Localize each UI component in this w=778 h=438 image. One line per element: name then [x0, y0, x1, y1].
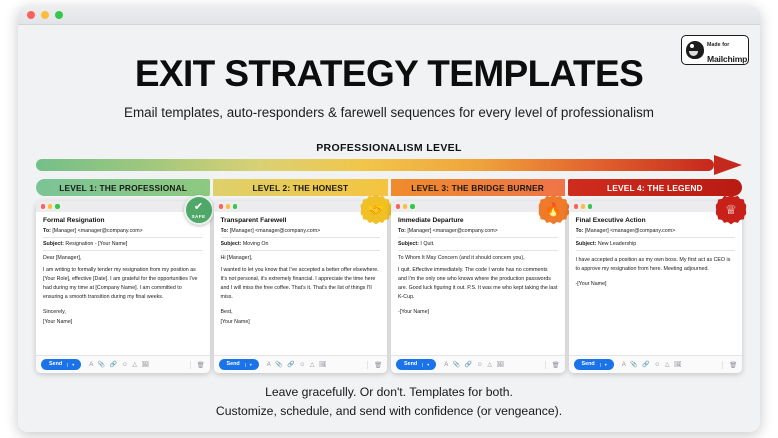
trash-icon[interactable]: 🗑: [722, 361, 737, 369]
mail-to-label: To:: [576, 228, 584, 234]
attach-file-icon[interactable]: 📎: [98, 362, 105, 368]
mail-greeting: To Whom It May Concern (and it should co…: [398, 255, 558, 261]
mail-to-field[interactable]: To: [Manager] <manager@company.com>: [43, 228, 203, 238]
mail-subject-value: I Quit.: [420, 241, 434, 247]
drive-icon[interactable]: △: [132, 362, 137, 368]
seal-glyph: ✔: [194, 202, 203, 213]
mail-subject-field[interactable]: Subject: Moving On: [221, 241, 381, 251]
footer-line-2: Customize, schedule, and send with confi…: [18, 402, 760, 421]
card-maximize-button[interactable]: [588, 204, 592, 208]
send-button[interactable]: Send ▾: [574, 359, 614, 369]
insert-photo-icon[interactable]: 🖼: [141, 362, 149, 368]
template-card-grid: ✔ SAFE Formal Resignation To: [Manager] …: [36, 201, 742, 373]
toolbar-icon-group: A 📎 🔗 ☺ △ 🖼: [267, 362, 327, 368]
mail-signoff: Best, [Your Name]: [221, 308, 381, 326]
mail-signoff: -[Your Name]: [576, 280, 736, 289]
attach-file-icon[interactable]: 📎: [275, 362, 282, 368]
trash-icon[interactable]: 🗑: [367, 361, 382, 369]
mail-subject-field[interactable]: Subject: Resignation - [Your Name]: [43, 241, 203, 251]
mail-title: Formal Resignation: [43, 217, 203, 224]
professionalism-meter-title: PROFESSIONALISM LEVEL: [18, 142, 760, 154]
mail-paragraph: I have accepted a position as my own bos…: [576, 256, 736, 274]
mail-paragraph: I am writing to formally tender my resig…: [43, 266, 203, 302]
drive-icon[interactable]: △: [665, 362, 670, 368]
level-chip-3[interactable]: LEVEL 3: THE BRIDGE BURNER: [391, 179, 565, 196]
card-minimize-button[interactable]: [403, 204, 407, 208]
template-card-final-executive-action[interactable]: ♕ Final Executive Action To: [Manager] <…: [569, 201, 743, 373]
trash-icon[interactable]: 🗑: [190, 361, 205, 369]
seal-glyph: 🤝: [368, 203, 384, 216]
template-card-immediate-departure[interactable]: 🔥 Immediate Departure To: [Manager] <man…: [391, 201, 565, 373]
mail-subject-label: Subject:: [221, 241, 242, 247]
badge-made-for-label: Made for: [707, 42, 729, 48]
compose-toolbar: Send ▾ A 📎 🔗 ☺ △ 🖼 🗑: [391, 355, 565, 373]
footer-caption: Leave gracefully. Or don't. Templates fo…: [18, 383, 760, 420]
send-button-label: Send: [404, 362, 417, 367]
insert-photo-icon[interactable]: 🖼: [496, 362, 504, 368]
mail-subject-field[interactable]: Subject: New Leadership: [576, 241, 736, 251]
emoji-icon[interactable]: ☺: [477, 362, 483, 368]
mail-subject-label: Subject:: [43, 241, 64, 247]
chevron-down-icon[interactable]: ▾: [67, 363, 74, 367]
card-body: Formal Resignation To: [Manager] <manage…: [36, 212, 210, 355]
toolbar-icon-group: A 📎 🔗 ☺ △ 🖼: [89, 362, 149, 368]
seal-label: SAFE: [192, 214, 206, 219]
mail-to-value: [Manager] <manager@company.com>: [407, 228, 497, 234]
mail-to-field[interactable]: To: [Manager] <manager@company.com>: [221, 228, 381, 238]
mail-paragraph: I quit. Effective immediately. The code …: [398, 266, 558, 302]
seal-glyph: ♕: [725, 203, 737, 216]
send-button-label: Send: [49, 362, 62, 367]
chevron-down-icon[interactable]: ▾: [422, 363, 429, 367]
check-seal-icon: ✔ SAFE: [184, 195, 214, 225]
template-card-formal-resignation[interactable]: ✔ SAFE Formal Resignation To: [Manager] …: [36, 201, 210, 373]
template-card-transparent-farewell[interactable]: 🤝 Transparent Farewell To: [Manager] <ma…: [214, 201, 388, 373]
card-minimize-button[interactable]: [48, 204, 52, 208]
mail-to-value: [Manager] <manager@company.com>: [230, 228, 320, 234]
toolbar-icon-group: A 📎 🔗 ☺ △ 🖼: [444, 362, 504, 368]
insert-link-icon[interactable]: 🔗: [287, 362, 294, 368]
app-window: Made for Mailchimp EXIT STRATEGY TEMPLAT…: [18, 6, 760, 432]
mail-subject-value: Moving On: [243, 241, 269, 247]
window-titlebar: [18, 6, 760, 25]
card-body: Final Executive Action To: [Manager] <ma…: [569, 212, 743, 355]
format-text-icon[interactable]: A: [89, 362, 93, 368]
compose-toolbar: Send ▾ A 📎 🔗 ☺ △ 🖼 🗑: [569, 355, 743, 373]
insert-link-icon[interactable]: 🔗: [465, 362, 472, 368]
format-text-icon[interactable]: A: [444, 362, 448, 368]
attach-file-icon[interactable]: 📎: [453, 362, 460, 368]
card-maximize-button[interactable]: [55, 204, 59, 208]
compose-toolbar: Send ▾ A 📎 🔗 ☺ △ 🖼 🗑: [36, 355, 210, 373]
mail-subject-value: New Leadership: [598, 241, 636, 247]
drive-icon[interactable]: △: [310, 362, 315, 368]
card-close-button[interactable]: [396, 204, 400, 208]
mail-title: Final Executive Action: [576, 217, 736, 224]
window-maximize-button[interactable]: [55, 11, 63, 19]
mail-subject-field[interactable]: Subject: I Quit.: [398, 241, 558, 251]
insert-link-icon[interactable]: 🔗: [110, 362, 117, 368]
level-chip-2[interactable]: LEVEL 2: THE HONEST: [213, 179, 387, 196]
insert-photo-icon[interactable]: 🖼: [319, 362, 327, 368]
mail-subject-label: Subject:: [398, 241, 419, 247]
mail-to-value: [Manager] <manager@company.com>: [585, 228, 675, 234]
card-maximize-button[interactable]: [233, 204, 237, 208]
mail-to-label: To:: [398, 228, 406, 234]
send-button-label: Send: [582, 362, 595, 367]
level-chip-row: LEVEL 1: THE PROFESSIONAL LEVEL 2: THE H…: [36, 179, 742, 196]
chevron-down-icon[interactable]: ▾: [600, 363, 607, 367]
mail-subject-value: Resignation - [Your Name]: [65, 241, 127, 247]
emoji-icon[interactable]: ☺: [122, 362, 128, 368]
poster-canvas: Made for Mailchimp EXIT STRATEGY TEMPLAT…: [18, 25, 760, 432]
window-close-button[interactable]: [27, 11, 35, 19]
send-button[interactable]: Send ▾: [396, 359, 436, 369]
meter-gradient-bar: [36, 159, 714, 171]
format-text-icon[interactable]: A: [622, 362, 626, 368]
mail-signoff: Sincerely, [Your Name]: [43, 308, 203, 326]
mail-to-value: [Manager] <manager@company.com>: [52, 228, 142, 234]
card-close-button[interactable]: [574, 204, 578, 208]
mail-greeting: Dear [Manager],: [43, 255, 203, 261]
card-close-button[interactable]: [219, 204, 223, 208]
mail-to-field[interactable]: To: [Manager] <manager@company.com>: [576, 228, 736, 238]
seal-glyph: 🔥: [545, 203, 561, 216]
mail-title: Immediate Departure: [398, 217, 558, 224]
card-body: Transparent Farewell To: [Manager] <mana…: [214, 212, 388, 355]
level-chip-4[interactable]: LEVEL 4: THE LEGEND: [568, 179, 742, 196]
mail-to-label: To:: [43, 228, 51, 234]
card-maximize-button[interactable]: [410, 204, 414, 208]
professionalism-meter: [36, 157, 742, 173]
send-button[interactable]: Send ▾: [219, 359, 259, 369]
mail-paragraph: I wanted to let you know that I've accep…: [221, 266, 381, 302]
insert-link-icon[interactable]: 🔗: [642, 362, 649, 368]
mail-title: Transparent Farewell: [221, 217, 381, 224]
mail-to-field[interactable]: To: [Manager] <manager@company.com>: [398, 228, 558, 238]
page-subtitle: Email templates, auto-responders & farew…: [18, 105, 760, 120]
trash-icon[interactable]: 🗑: [545, 361, 560, 369]
meter-arrow-icon: [714, 155, 742, 175]
chevron-down-icon[interactable]: ▾: [245, 363, 252, 367]
format-text-icon[interactable]: A: [267, 362, 271, 368]
footer-line-1: Leave gracefully. Or don't. Templates fo…: [18, 383, 760, 402]
attach-file-icon[interactable]: 📎: [630, 362, 637, 368]
mail-greeting: Hi [Manager],: [221, 255, 381, 261]
emoji-icon[interactable]: ☺: [299, 362, 305, 368]
mail-subject-label: Subject:: [576, 241, 597, 247]
card-close-button[interactable]: [41, 204, 45, 208]
send-button-label: Send: [227, 362, 240, 367]
level-chip-1[interactable]: LEVEL 1: THE PROFESSIONAL: [36, 179, 210, 196]
page-title: EXIT STRATEGY TEMPLATES: [18, 53, 760, 95]
emoji-icon[interactable]: ☺: [654, 362, 660, 368]
card-minimize-button[interactable]: [226, 204, 230, 208]
send-button[interactable]: Send ▾: [41, 359, 81, 369]
mail-signoff: -[Your Name]: [398, 308, 558, 317]
toolbar-icon-group: A 📎 🔗 ☺ △ 🖼: [622, 362, 682, 368]
card-body: Immediate Departure To: [Manager] <manag…: [391, 212, 565, 355]
card-minimize-button[interactable]: [581, 204, 585, 208]
mail-to-label: To:: [221, 228, 229, 234]
drive-icon[interactable]: △: [487, 362, 492, 368]
insert-photo-icon[interactable]: 🖼: [674, 362, 682, 368]
compose-toolbar: Send ▾ A 📎 🔗 ☺ △ 🖼 🗑: [214, 355, 388, 373]
window-minimize-button[interactable]: [41, 11, 49, 19]
